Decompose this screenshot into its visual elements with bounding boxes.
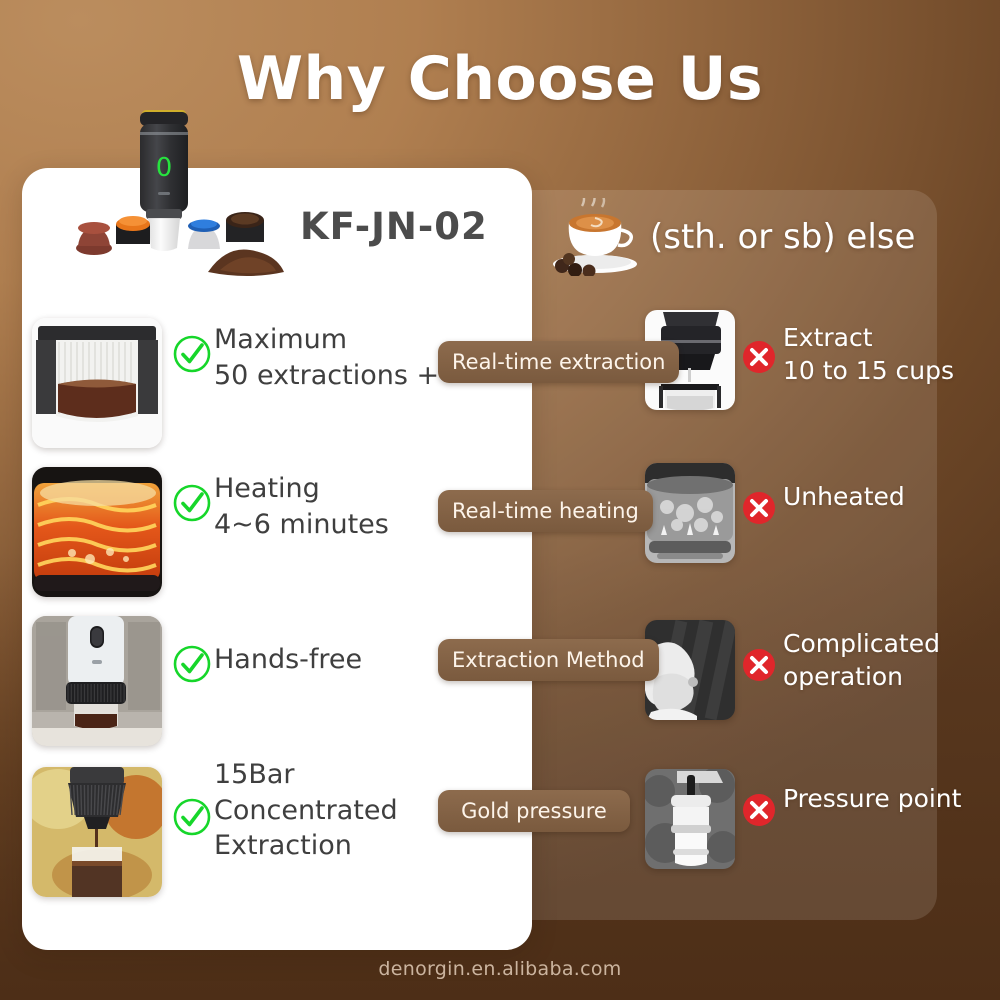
pro-feature-text-1: Maximum 50 extractions + [214,322,439,393]
comparison-row: Heating 4~6 minutesReal-time heatingUnhe… [0,457,1000,607]
con-feature-text-4: Pressure point [783,783,961,816]
cross-circle-icon [742,491,776,525]
category-pill-3[interactable]: Extraction Method [438,639,659,681]
category-pill-label-3: Extraction Method [452,648,645,672]
category-pill-1[interactable]: Real-time extraction [438,341,679,383]
product-model-name: KF-JN-02 [300,205,488,248]
con-feature-text-1: Extract 10 to 15 cups [783,322,954,387]
category-pill-label-4: Gold pressure [461,799,607,823]
pro-feature-text-3: Hands-free [214,642,362,678]
pro-image-1 [32,318,162,448]
pro-feature-text-2: Heating 4~6 minutes [214,471,389,542]
con-feature-text-2: Unheated [783,481,905,514]
svg-text:0: 0 [156,153,173,183]
con-image-2 [645,463,735,563]
page-title: Why Choose Us [0,44,1000,114]
pro-image-4 [32,767,162,897]
check-circle-icon [172,334,212,374]
pro-image-3 [32,616,162,746]
comparison-row: 15Bar Concentrated ExtractionGold pressu… [0,757,1000,907]
poster-canvas: Why Choose Us 0 [0,0,1000,1000]
con-feature-text-3: Complicated operation [783,628,940,693]
footer-url: denorgin.en.alibaba.com [0,958,1000,980]
check-circle-icon [172,644,212,684]
category-pill-label-1: Real-time extraction [452,350,665,374]
check-circle-icon [172,797,212,837]
pro-feature-text-4: 15Bar Concentrated Extraction [214,757,398,864]
comparison-row: Maximum 50 extractions +Real-time extrac… [0,308,1000,458]
competitor-header: (sth. or sb) else [548,198,948,276]
pro-image-2 [32,467,162,597]
hero-product-image: 0 [58,96,298,286]
con-image-4 [645,769,735,869]
comparison-row: Hands-freeExtraction MethodComplicated o… [0,606,1000,756]
cross-circle-icon [742,793,776,827]
competitor-header-label: (sth. or sb) else [650,217,915,257]
check-circle-icon [172,483,212,523]
coffee-cup-with-beans-icon [548,198,644,276]
cross-circle-icon [742,340,776,374]
category-pill-4[interactable]: Gold pressure [438,790,630,832]
category-pill-label-2: Real-time heating [452,499,639,523]
cross-circle-icon [742,648,776,682]
category-pill-2[interactable]: Real-time heating [438,490,653,532]
